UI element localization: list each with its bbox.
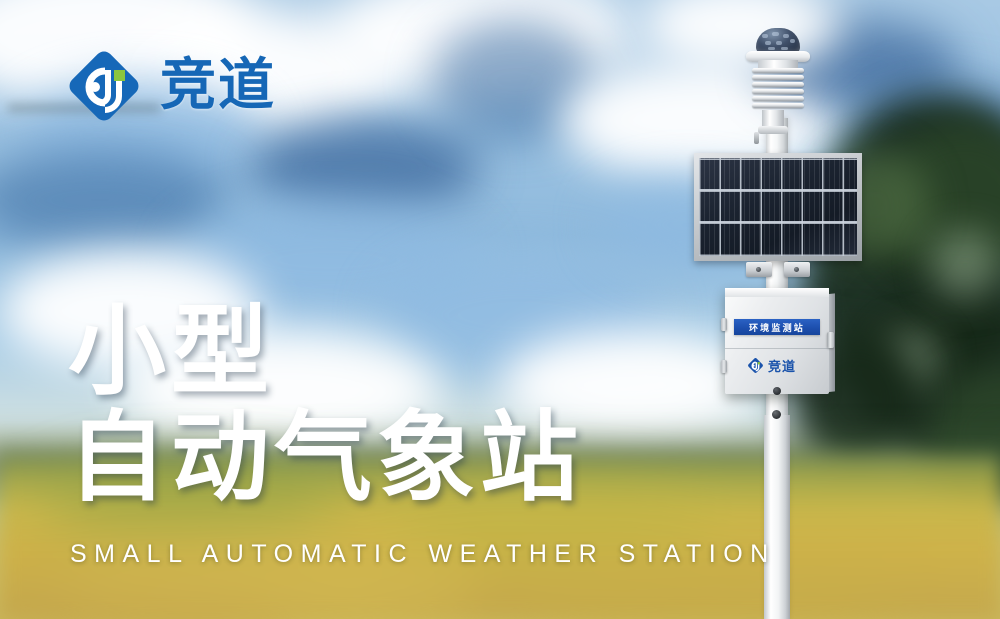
enclosure-brand-name: 竞道: [768, 356, 796, 375]
panel-mounting-bracket: [746, 262, 810, 280]
pole-mount-bolt: [772, 410, 781, 419]
headline-line-2: 自动气象站: [68, 406, 583, 512]
subtitle: SMALL AUTOMATIC WEATHER STATION: [70, 540, 776, 569]
enclosure-top-edge: [725, 288, 829, 297]
sensor-collar: [758, 126, 788, 134]
ultrasonic-weather-sensor-icon: [736, 28, 820, 132]
enclosure-hinge-upper: [721, 318, 727, 331]
environment-monitoring-enclosure[interactable]: 环境监测站 竞道: [725, 288, 829, 394]
brand-name: 竞道: [160, 58, 276, 114]
radiation-shield: [752, 68, 804, 112]
enclosure-latch[interactable]: [827, 332, 834, 348]
enclosure-banner: 环境监测站: [734, 319, 820, 335]
solar-panel-icon: [694, 153, 862, 261]
enclosure-brand-logo: 竞道: [747, 356, 796, 375]
sensor-clip: [754, 132, 759, 144]
brand-logo[interactable]: 竞道: [64, 46, 276, 126]
jingdao-diamond-logo-icon: [747, 357, 764, 374]
page-title: 小型 自动气象站: [68, 300, 583, 512]
product-banner: 竞道 小型 自动气象站 SMALL AUTOMATIC WEATHER STAT…: [0, 0, 1000, 619]
enclosure-cable-gland: [773, 387, 781, 395]
enclosure-banner-label: 环境监测站: [749, 321, 805, 334]
enclosure-hinge-lower: [721, 360, 727, 373]
headline-line-1: 小型: [68, 300, 583, 406]
jingdao-diamond-logo-icon: [64, 46, 144, 126]
enclosure-door-seam: [725, 348, 829, 349]
mounting-pole-lower: [764, 415, 790, 619]
